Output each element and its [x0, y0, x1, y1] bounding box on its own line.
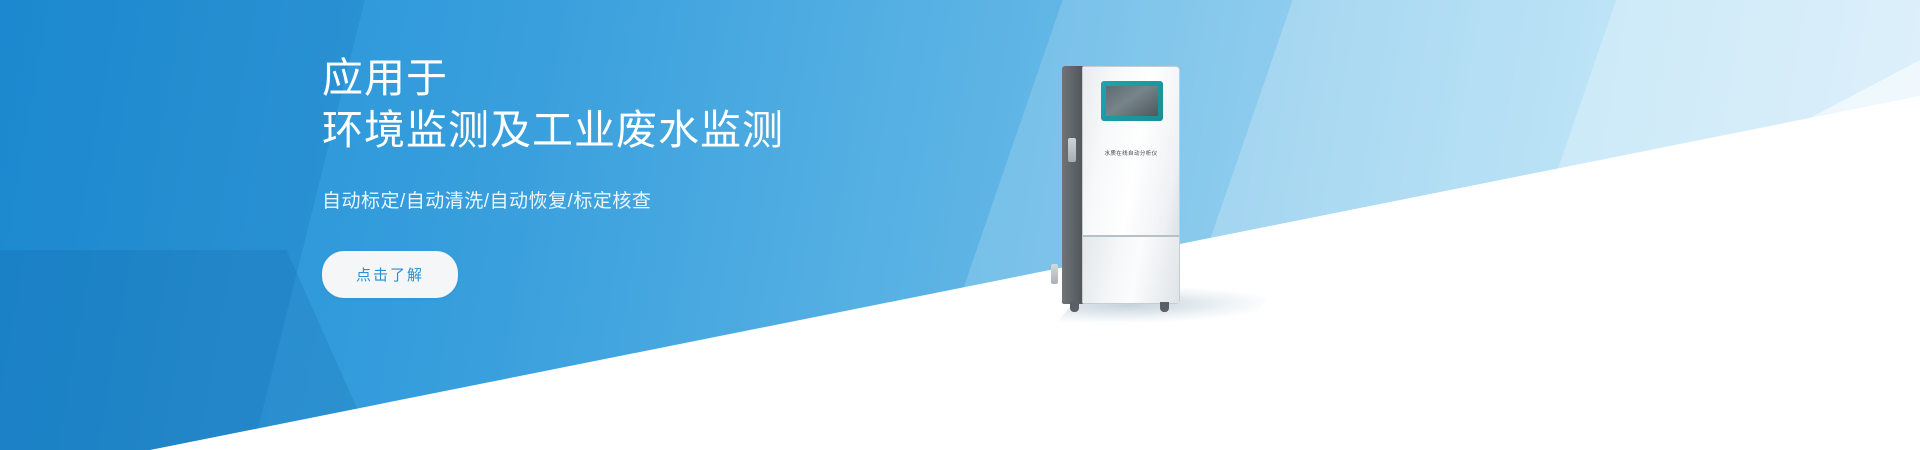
device-label: 水质在线自动分析仪	[1083, 149, 1179, 157]
headline-line-1: 应用于	[322, 55, 448, 101]
hero-banner: 应用于 环境监测及工业废水监测 自动标定/自动清洗/自动恢复/标定核查 点击了解…	[0, 0, 1920, 450]
device-display-screen	[1101, 81, 1163, 121]
hero-subtitle: 自动标定/自动清洗/自动恢复/标定核查	[322, 186, 1022, 213]
device-lower-door	[1083, 237, 1179, 303]
background-wedge-light-a	[884, 0, 1920, 450]
page-title: 应用于 环境监测及工业废水监测	[322, 52, 1022, 156]
device-lower-handle	[1051, 264, 1058, 284]
device-screen-glass	[1106, 86, 1158, 116]
headline-line-2: 环境监测及工业废水监测	[322, 104, 1022, 156]
device-side-handle	[1068, 138, 1076, 162]
device-cabinet: 水质在线自动分析仪	[1082, 66, 1180, 304]
device-side-panel	[1062, 66, 1084, 304]
product-image-water-analyzer: 水质在线自动分析仪	[1062, 66, 1180, 314]
background-wedge-light-b	[1107, 0, 1920, 450]
hero-content: 应用于 环境监测及工业废水监测 自动标定/自动清洗/自动恢复/标定核查 点击了解	[322, 52, 1022, 298]
device-foot-left	[1070, 302, 1079, 312]
device-foot-right	[1160, 302, 1169, 312]
learn-more-button[interactable]: 点击了解	[322, 251, 458, 298]
background-wedge-light-c	[1423, 0, 1920, 450]
device-upper-door: 水质在线自动分析仪	[1083, 67, 1179, 237]
